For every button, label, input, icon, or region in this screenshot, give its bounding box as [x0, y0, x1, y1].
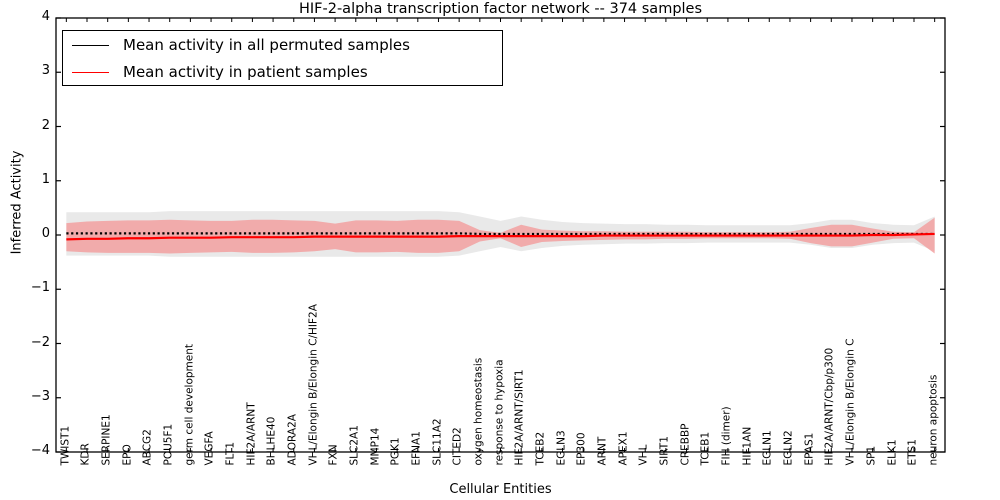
x-tick-label: HIF2A/ARNT/Cbp/p300: [825, 348, 836, 466]
x-tick-label: CITED2: [453, 427, 464, 465]
legend-label-patient: Mean activity in patient samples: [123, 63, 368, 81]
y-tick-label: −4: [4, 444, 50, 457]
x-tick-label: EP300: [577, 432, 588, 465]
x-tick-label: FXN: [329, 444, 340, 465]
x-tick-label: EGLN2: [784, 430, 795, 465]
y-tick-label: 2: [4, 119, 50, 132]
y-axis-label: Inferred Activity: [10, 103, 25, 303]
x-tick-label: neuron apoptosis: [928, 375, 939, 466]
x-tick-label: TCEB2: [536, 432, 547, 466]
legend-item-permuted: Mean activity in all permuted samples: [63, 31, 502, 59]
y-tick-label: 1: [4, 173, 50, 186]
legend-line-swatch-permuted: [72, 45, 109, 46]
x-tick-label: EPAS1: [804, 433, 815, 466]
x-tick-label: ARNT: [598, 437, 609, 466]
y-tick-label: −3: [4, 390, 50, 403]
x-tick-label: HIF2A/ARNT/SIRT1: [515, 369, 526, 465]
x-tick-label: HIF1AN: [742, 427, 753, 466]
x-tick-label: PGK1: [391, 437, 402, 465]
chart-title: HIF-2-alpha transcription factor network…: [56, 1, 945, 17]
y-tick-label: 3: [4, 64, 50, 77]
x-tick-label: response to hypoxia: [494, 359, 505, 465]
x-tick-label: POU5F1: [163, 424, 174, 466]
x-tick-label: EPO: [122, 444, 133, 465]
legend-item-patient: Mean activity in patient samples: [63, 58, 502, 86]
x-tick-label: BHLHE40: [267, 417, 278, 466]
y-tick-label: −2: [4, 336, 50, 349]
legend-line-swatch-patient: [72, 72, 109, 73]
x-tick-label: CREBBP: [680, 424, 691, 466]
x-tick-label: FIH (dimer): [722, 406, 733, 465]
x-tick-label: MMP14: [370, 428, 381, 466]
x-tick-label: VEGFA: [205, 431, 216, 465]
x-tick-label: SLC2A1: [349, 425, 360, 465]
y-tick-label: 4: [4, 10, 50, 23]
x-tick-label: TCEB1: [701, 432, 712, 466]
x-tick-label: SERPINE1: [101, 414, 112, 465]
x-tick-label: VHL/Elongin B/Elongin C: [846, 339, 857, 466]
x-tick-label: oxygen homeostasis: [474, 358, 485, 466]
x-tick-label: VHL/Elongin B/Elongin C/HIF2A: [308, 304, 319, 465]
x-tick-label: ELK1: [887, 439, 898, 465]
y-tick-label: −1: [4, 281, 50, 294]
x-tick-label: germ cell development: [184, 344, 195, 466]
x-tick-label: EGLN3: [556, 430, 567, 465]
x-tick-label: ETS1: [908, 439, 919, 465]
x-tick-label: EGLN1: [763, 430, 774, 465]
legend-label-permuted: Mean activity in all permuted samples: [123, 36, 410, 54]
x-tick-label: TWIST1: [60, 426, 71, 466]
x-tick-label: KDR: [81, 443, 92, 465]
y-tick-label: 0: [4, 227, 50, 240]
x-tick-label: SIRT1: [660, 436, 671, 465]
x-tick-label: FLT1: [225, 442, 236, 466]
x-tick-label: VHL: [639, 445, 650, 466]
x-tick-label: SLC11A2: [432, 418, 443, 465]
x-tick-label: APEX1: [618, 431, 629, 465]
x-axis-label: Cellular Entities: [56, 482, 945, 497]
x-tick-label: SP1: [866, 446, 877, 466]
figure-canvas: HIF-2-alpha transcription factor network…: [0, 0, 1000, 500]
legend: Mean activity in all permuted samples Me…: [62, 30, 503, 86]
x-tick-label: ADORA2A: [287, 414, 298, 465]
x-tick-label: EFNA1: [412, 431, 423, 465]
x-tick-label: HIF2A/ARNT: [246, 402, 257, 465]
x-tick-label: ABCG2: [143, 429, 154, 465]
